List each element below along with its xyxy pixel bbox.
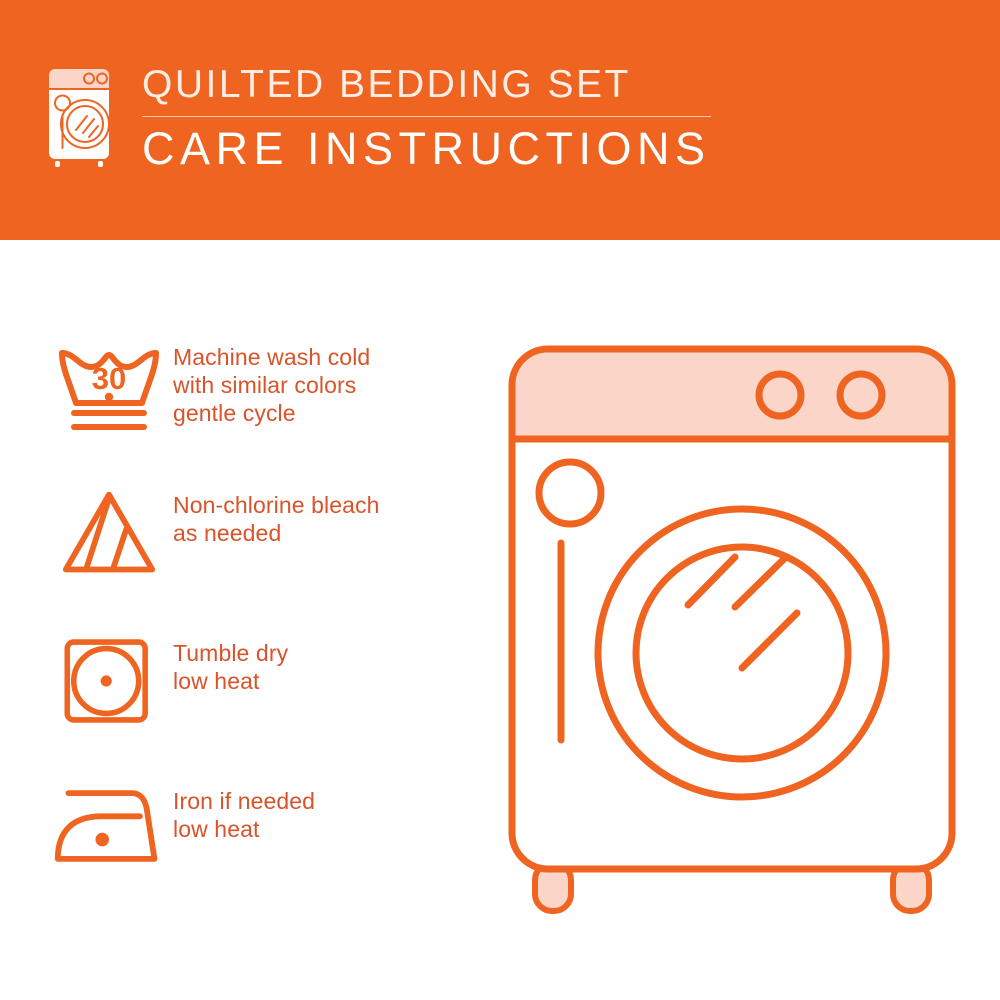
care-line: with similar colors [173, 372, 356, 398]
care-instruction-label-dry: Tumble dry low heat [173, 631, 288, 695]
front-load-washing-machine-illustration [495, 335, 970, 935]
care-instruction-label-iron: Iron if needed low heat [173, 779, 315, 843]
washing-machine-icon [42, 62, 120, 170]
page-subtitle: CARE INSTRUCTIONS [142, 123, 711, 175]
iron-icon [45, 779, 173, 871]
control-knob-left [759, 374, 801, 416]
wash-temperature-label: 30 [92, 361, 126, 396]
wash-tub-icon: 30 [45, 335, 173, 437]
care-instruction-item-iron: Iron if needed low heat [45, 779, 475, 927]
care-instruction-label-bleach: Non-chlorine bleach as needed [173, 483, 379, 547]
care-line: Machine wash cold [173, 344, 370, 370]
tumble-dry-icon [45, 631, 173, 729]
header-text-block: QUILTED BEDDING SET CARE INSTRUCTIONS [142, 62, 711, 175]
main-content: 30 Machine wash cold with similar colors… [0, 240, 1000, 1000]
title-divider [142, 116, 711, 117]
care-instruction-item-wash: 30 Machine wash cold with similar colors… [45, 335, 475, 483]
header-content: QUILTED BEDDING SET CARE INSTRUCTIONS [42, 62, 711, 175]
page-title: QUILTED BEDDING SET [142, 62, 711, 108]
care-instruction-label-wash: Machine wash cold with similar colors ge… [173, 335, 370, 427]
care-instruction-list: 30 Machine wash cold with similar colors… [45, 335, 475, 927]
care-line: gentle cycle [173, 400, 296, 426]
care-line: Non-chlorine bleach [173, 492, 379, 518]
care-instruction-item-dry: Tumble dry low heat [45, 631, 475, 779]
care-instruction-item-bleach: Non-chlorine bleach as needed [45, 483, 475, 631]
care-line: Iron if needed [173, 788, 315, 814]
care-line: Tumble dry [173, 640, 288, 666]
care-line: low heat [173, 668, 259, 694]
care-line: low heat [173, 816, 259, 842]
care-line: as needed [173, 520, 281, 546]
header-band: QUILTED BEDDING SET CARE INSTRUCTIONS [0, 0, 1000, 240]
control-knob-right [840, 374, 882, 416]
bleach-triangle-icon [45, 483, 173, 581]
